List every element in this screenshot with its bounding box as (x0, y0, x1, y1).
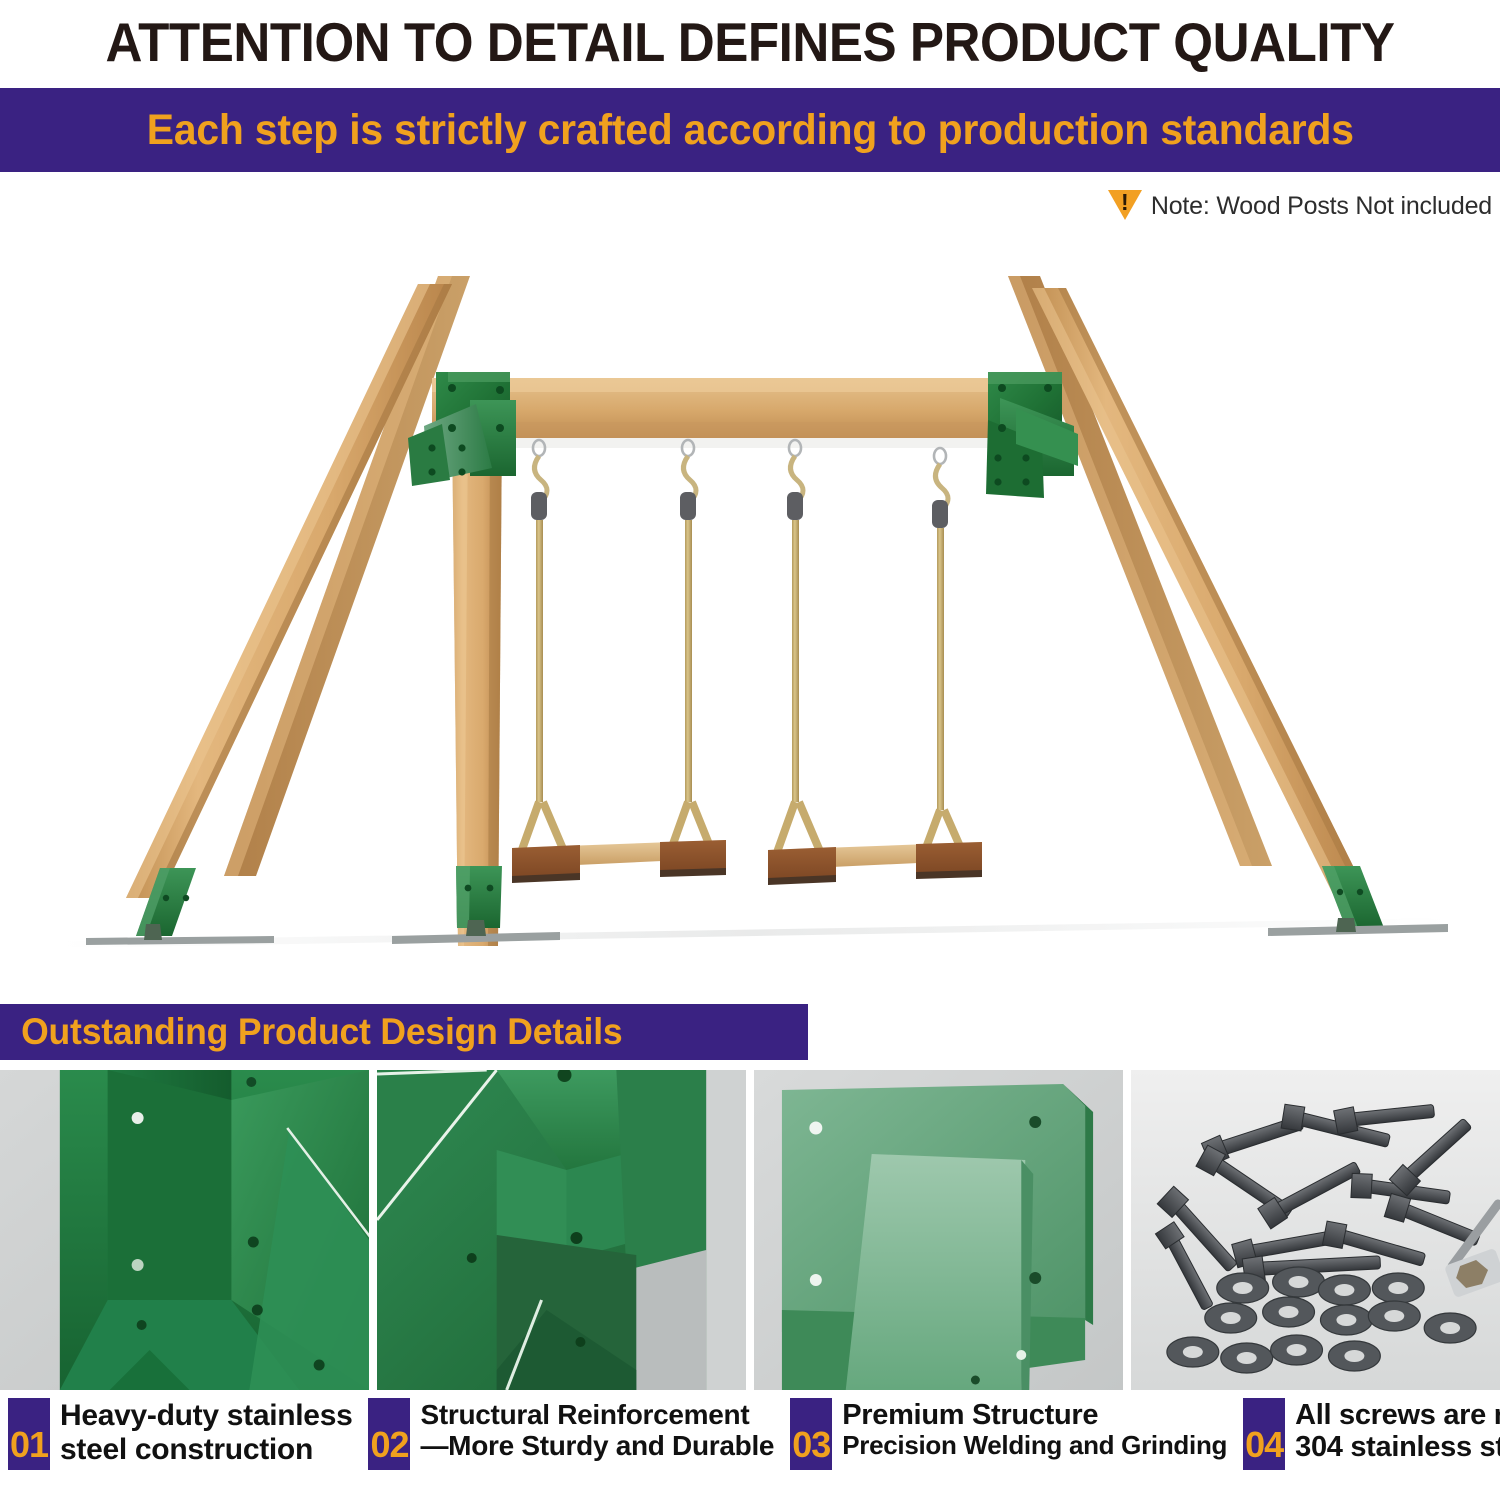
detail-photo-2 (377, 1070, 746, 1390)
swing-seat-left (512, 440, 726, 883)
note-text: Note: Wood Posts Not included (1151, 192, 1492, 221)
caption-item-2: 02 Structural Reinforcement —More Sturdy… (360, 1398, 774, 1487)
caption-row: 01 Heavy-duty stainless steel constructi… (0, 1398, 1500, 1487)
swing-set-drawing (0, 176, 1500, 991)
right-rear-leg (1008, 276, 1272, 866)
swing-hanger-left-a (531, 440, 547, 802)
hero-product-illustration (0, 176, 1500, 991)
caption-line-2: 304 stainless steel (1295, 1431, 1500, 1463)
swing-hanger-right-b (932, 448, 948, 810)
caption-line-1: All screws are made of (1295, 1399, 1500, 1431)
subheadline-text: Each step is strictly crafted according … (146, 106, 1353, 155)
right-front-leg (1032, 288, 1368, 896)
detail-photo-3 (754, 1070, 1123, 1390)
section-banner: Outstanding Product Design Details (0, 1004, 808, 1060)
foot-bracket-left-front (86, 868, 274, 945)
left-front-leg (126, 284, 452, 898)
caption-badge-3: 03 (790, 1398, 832, 1470)
caption-text-2: Structural Reinforcement —More Sturdy an… (420, 1398, 774, 1462)
caption-item-1: 01 Heavy-duty stainless steel constructi… (0, 1398, 352, 1487)
caption-badge-1: 01 (8, 1398, 50, 1470)
caption-line-2: Precision Welding and Grinding (842, 1431, 1227, 1460)
subheadline-banner: Each step is strictly crafted according … (0, 88, 1500, 172)
caption-badge-2: 02 (368, 1398, 410, 1470)
caption-line-1: Premium Structure (842, 1399, 1227, 1431)
left-rear-leg (224, 276, 470, 876)
caption-line-2: steel construction (60, 1433, 352, 1467)
caption-item-4: 04 All screws are made of 304 stainless … (1235, 1398, 1500, 1487)
page-title: ATTENTION TO DETAIL DEFINES PRODUCT QUAL… (53, 0, 1448, 84)
warning-triangle-icon: ! (1108, 190, 1142, 222)
caption-badge-4: 04 (1243, 1398, 1285, 1470)
swing-hanger-right-a (787, 440, 803, 802)
swing-hanger-left-b (680, 440, 696, 802)
top-beam (432, 378, 1052, 448)
note-callout: ! Note: Wood Posts Not included (1108, 190, 1492, 222)
detail-image-grid (0, 1070, 1500, 1390)
caption-text-1: Heavy-duty stainless steel construction (60, 1398, 352, 1466)
caption-item-3: 03 Premium Structure Precision Welding a… (782, 1398, 1227, 1487)
section-title: Outstanding Product Design Details (0, 1011, 622, 1053)
caption-line-1: Heavy-duty stainless (60, 1399, 352, 1433)
caption-line-1: Structural Reinforcement (420, 1399, 774, 1430)
caption-text-3: Premium Structure Precision Welding and … (842, 1398, 1227, 1461)
detail-photo-4 (1131, 1070, 1500, 1390)
detail-photo-1 (0, 1070, 369, 1390)
caption-line-2: —More Sturdy and Durable (420, 1430, 774, 1461)
caption-text-4: All screws are made of 304 stainless ste… (1295, 1398, 1500, 1464)
swing-seat-right (768, 440, 982, 885)
